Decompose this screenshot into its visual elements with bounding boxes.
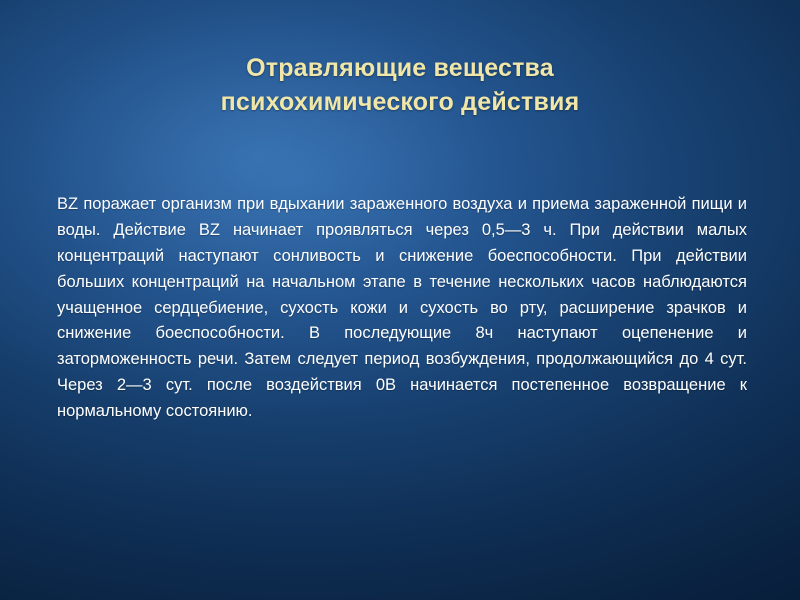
slide-body: BZ поражает организм при вдыхании зараже… bbox=[57, 192, 747, 425]
slide-title-line-2: психохимического действия bbox=[64, 86, 736, 120]
body-paragraph: BZ поражает организм при вдыхании зараже… bbox=[57, 192, 747, 425]
slide-title: Отравляющие вещества психохимического де… bbox=[64, 52, 736, 120]
slide-title-line-1: Отравляющие вещества bbox=[64, 52, 736, 86]
presentation-slide: Отравляющие вещества психохимического де… bbox=[0, 0, 800, 600]
